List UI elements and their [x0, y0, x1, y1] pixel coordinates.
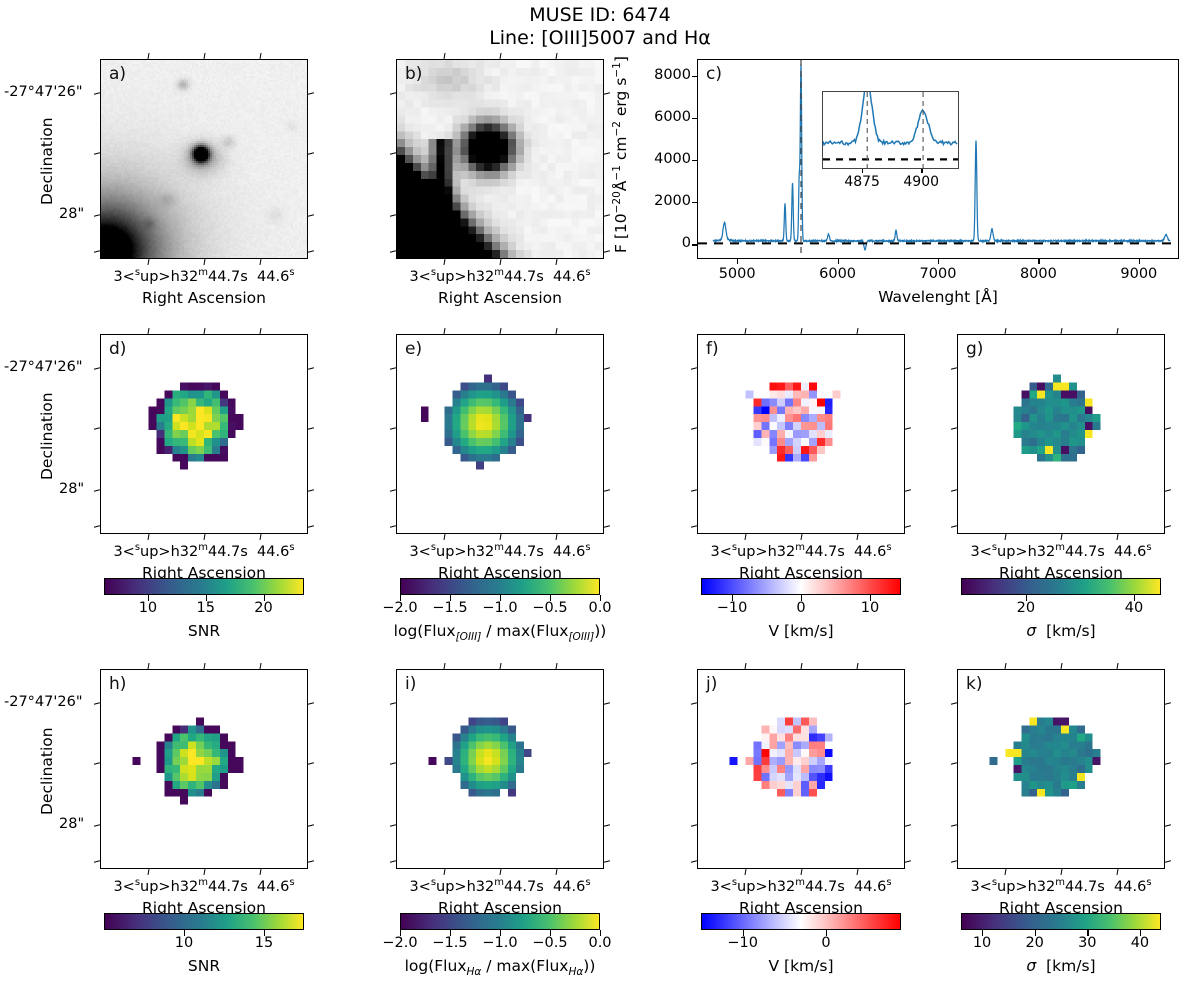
tick-x-bottom — [203, 534, 205, 540]
spec-xtick — [938, 259, 939, 264]
tick-y-right — [905, 427, 911, 430]
inset-spectrum-line — [823, 92, 957, 145]
tick-y-right — [1165, 860, 1171, 863]
spec-ytick — [692, 76, 697, 77]
tick-y-right — [1165, 489, 1171, 492]
colorbar-cb-j[interactable] — [701, 913, 901, 930]
ra-tick-labels: 3<sup>h32m44.7s 44.6s — [382, 877, 618, 895]
spec-ytick — [692, 118, 697, 119]
ra-tick-label-1: 3<sup>h32m44.7s — [113, 544, 247, 560]
dec-tick-label-2: 28" — [59, 481, 84, 497]
panel-b-label: b) — [405, 64, 422, 84]
panel-j-image — [698, 670, 904, 868]
tick-y-right — [604, 214, 610, 217]
colorbar-title-cb-d: SNR — [48, 622, 360, 640]
spec-xtick — [838, 259, 839, 264]
ra-tick-label-1: 3<sup>h32m44.7s — [970, 879, 1104, 895]
ra-tick-label-2: 44.6s — [553, 269, 591, 285]
panel-b-muse-white-image[interactable]: b) — [396, 59, 604, 259]
dec-tick-label-2: 28" — [59, 816, 84, 832]
ra-tick-label-2: 44.6s — [257, 879, 295, 895]
panel-g-image — [958, 335, 1164, 533]
colorbar-cb-g[interactable] — [961, 578, 1161, 595]
spec-ytick — [692, 244, 697, 245]
dec-tick-label-1: -27°47'26" — [4, 84, 83, 100]
panel-c-label: c) — [706, 64, 722, 84]
tick-x-bottom — [443, 259, 445, 265]
panel-g-oiii-sigma-map[interactable]: g) — [957, 334, 1165, 534]
panel-f-image — [698, 335, 904, 533]
panel-i-halpha-flux-map[interactable]: i) — [396, 669, 604, 869]
panel-a-hst-image[interactable]: a) — [100, 59, 308, 259]
tick-y-right — [1165, 824, 1171, 827]
colorbar-tick-label: −10 — [709, 935, 777, 951]
tick-y-right — [604, 427, 610, 430]
ra-tick-label-1: 3<sup>h32m44.7s — [710, 879, 844, 895]
tick-x-bottom — [260, 259, 262, 265]
dec-axis-label: Declination — [38, 727, 56, 815]
tick-x-bottom — [443, 534, 445, 540]
panel-e-oiii-flux-map[interactable]: e) — [396, 334, 604, 534]
spec-xtick-label: 5000 — [711, 266, 763, 282]
tick-y-right — [604, 250, 610, 253]
panel-j-halpha-velocity-map[interactable]: j) — [697, 669, 905, 869]
tick-y-right — [604, 860, 610, 863]
spec-ytick-label: 0 — [637, 235, 691, 251]
tick-y-right — [308, 250, 314, 253]
tick-y-right — [905, 489, 911, 492]
spec-ytick-label: 4000 — [637, 151, 691, 167]
tick-y-right — [308, 489, 314, 492]
tick-x-bottom — [556, 534, 558, 540]
tick-x-bottom — [1060, 534, 1062, 540]
tick-y-right — [308, 152, 314, 155]
tick-x-bottom — [203, 259, 205, 265]
dec-tick-label-1: -27°47'26" — [4, 694, 83, 710]
panel-d-label: d) — [109, 339, 126, 359]
tick-y-right — [905, 860, 911, 863]
colorbar-cb-i[interactable] — [400, 913, 600, 930]
colorbar-cb-k[interactable] — [961, 913, 1161, 930]
ra-tick-label-1: 3<sup>h32m44.7s — [409, 544, 543, 560]
colorbar-tick-label: 0.0 — [566, 935, 634, 951]
colorbar-tick-label: 40 — [1106, 935, 1174, 951]
ra-tick-labels: 3<sup>h32m44.7s 44.6s — [86, 877, 322, 895]
colorbar-tick-label: 0 — [792, 935, 860, 951]
tick-x-bottom — [857, 869, 859, 875]
tick-x-bottom — [260, 869, 262, 875]
tick-x-bottom — [1004, 534, 1006, 540]
colorbar-tick-label: 20 — [992, 600, 1060, 616]
tick-y-right — [604, 762, 610, 765]
tick-y-right — [905, 525, 911, 528]
colorbar-title-cb-i: log(FluxHα / max(FluxHα)) — [344, 957, 656, 978]
spec-xtick-label: 8000 — [1012, 266, 1064, 282]
panel-i-image — [397, 670, 603, 868]
tick-y-right — [308, 702, 314, 705]
dec-axis-label: Declination — [38, 392, 56, 480]
tick-x-bottom — [499, 534, 501, 540]
colorbar-tick-label: 0 — [767, 600, 835, 616]
ra-tick-labels: 3<sup>h32m44.7s 44.6s — [943, 877, 1179, 895]
panel-h-label: h) — [109, 674, 126, 694]
spectrum-inset[interactable] — [822, 91, 959, 169]
ra-tick-label-1: 3<sup>h32m44.7s — [970, 544, 1104, 560]
panel-k-label: k) — [966, 674, 982, 694]
tick-y-right — [308, 367, 314, 370]
panel-k-image — [958, 670, 1164, 868]
ra-tick-label-2: 44.6s — [553, 544, 591, 560]
panel-f-label: f) — [706, 339, 719, 359]
colorbar-tick-label: −10 — [698, 600, 766, 616]
dec-tick-label-2: 28" — [59, 206, 84, 222]
tick-y-right — [604, 152, 610, 155]
panel-f-oiii-velocity-map[interactable]: f) — [697, 334, 905, 534]
inset-plot — [823, 92, 958, 168]
ra-tick-labels: 3<sup>h32m44.7s 44.6s — [943, 542, 1179, 560]
spectrum-xaxis-label: Wavelenght [Å] — [697, 288, 1179, 306]
panel-a-label: a) — [109, 64, 126, 84]
tick-x-bottom — [857, 534, 859, 540]
colorbar-tick-label: 10 — [836, 600, 904, 616]
panel-j-label: j) — [706, 674, 717, 694]
title-line-muse-id: MUSE ID: 6474 — [0, 4, 1200, 27]
dec-axis-label: Declination — [38, 117, 56, 205]
spec-xtick-label: 9000 — [1113, 266, 1165, 282]
ra-tick-labels: 3<sup>h32m44.7s 44.6s — [382, 267, 618, 285]
tick-y-right — [604, 702, 610, 705]
ra-tick-labels: 3<sup>h32m44.7s 44.6s — [683, 877, 919, 895]
tick-x-bottom — [1117, 534, 1119, 540]
colorbar-title-cb-k: σ [km/s] — [905, 957, 1200, 975]
tick-y-right — [308, 427, 314, 430]
spec-ytick-label: 6000 — [637, 109, 691, 125]
tick-y-right — [1165, 525, 1171, 528]
colorbar-title-cb-e: log(Flux[OIII] / max(Flux[OIII])) — [344, 622, 656, 643]
colorbar-cb-f[interactable] — [701, 578, 901, 595]
tick-y-right — [308, 525, 314, 528]
panel-g-label: g) — [966, 339, 983, 359]
colorbar-title-cb-h: SNR — [48, 957, 360, 975]
ra-tick-label-1: 3<sup>h32m44.7s — [113, 269, 247, 285]
spec-xtick — [1139, 259, 1140, 264]
figure-title: MUSE ID: 6474 Line: [OIII]5007 and Hα — [0, 4, 1200, 50]
panel-b-image — [397, 60, 603, 258]
spec-xtick — [1038, 259, 1039, 264]
colorbar-tick-label: 20 — [230, 600, 298, 616]
inset-xtick — [921, 169, 922, 173]
tick-y-right — [308, 214, 314, 217]
ra-tick-labels: 3<sup>h32m44.7s 44.6s — [683, 542, 919, 560]
tick-x-bottom — [1004, 869, 1006, 875]
tick-x-bottom — [443, 869, 445, 875]
panel-a-image — [101, 60, 307, 258]
tick-x-bottom — [147, 534, 149, 540]
ra-tick-labels: 3<sup>h32m44.7s 44.6s — [86, 542, 322, 560]
colorbar-cb-h[interactable] — [104, 913, 304, 930]
ra-tick-label-2: 44.6s — [553, 879, 591, 895]
tick-y-right — [604, 489, 610, 492]
tick-x-bottom — [203, 869, 205, 875]
tick-x-bottom — [147, 869, 149, 875]
tick-x-bottom — [744, 869, 746, 875]
tick-y-right — [604, 824, 610, 827]
tick-x-bottom — [147, 259, 149, 265]
tick-y-right — [308, 860, 314, 863]
tick-y-right — [905, 762, 911, 765]
ra-tick-label-2: 44.6s — [257, 544, 295, 560]
panel-k-halpha-sigma-map[interactable]: k) — [957, 669, 1165, 869]
dec-tick-label-1: -27°47'26" — [4, 359, 83, 375]
spec-ytick — [692, 160, 697, 161]
tick-x-bottom — [260, 534, 262, 540]
colorbar-title-cb-g: σ [km/s] — [905, 622, 1200, 640]
spec-xtick — [737, 259, 738, 264]
ra-tick-label-2: 44.6s — [1114, 879, 1152, 895]
tick-y-right — [1165, 762, 1171, 765]
tick-y-right — [1165, 427, 1171, 430]
tick-y-right — [604, 525, 610, 528]
ra-axis-label: Right Ascension — [382, 289, 618, 307]
tick-y-right — [308, 92, 314, 95]
tick-y-right — [1165, 367, 1171, 370]
colorbar-cb-d[interactable] — [104, 578, 304, 595]
tick-y-right — [604, 367, 610, 370]
panel-d-image — [101, 335, 307, 533]
figure-canvas: MUSE ID: 6474 Line: [OIII]5007 and Hα a)… — [0, 0, 1200, 994]
spec-ytick — [692, 202, 697, 203]
tick-x-bottom — [499, 869, 501, 875]
inset-xtick-label: 4875 — [834, 174, 890, 190]
panel-h-halpha-snr-map[interactable]: h) — [100, 669, 308, 869]
tick-x-bottom — [744, 534, 746, 540]
tick-x-bottom — [800, 869, 802, 875]
panel-e-image — [397, 335, 603, 533]
colorbar-tick-label: 40 — [1100, 600, 1168, 616]
ra-tick-label-2: 44.6s — [1114, 544, 1152, 560]
panel-h-image — [101, 670, 307, 868]
tick-y-right — [905, 824, 911, 827]
tick-x-bottom — [1117, 869, 1119, 875]
ra-axis-label: Right Ascension — [86, 289, 322, 307]
ra-tick-label-2: 44.6s — [257, 269, 295, 285]
tick-x-bottom — [499, 259, 501, 265]
tick-y-right — [905, 702, 911, 705]
title-line-emission-lines: Line: [OIII]5007 and Hα — [0, 27, 1200, 50]
ra-tick-labels: 3<sup>h32m44.7s 44.6s — [382, 542, 618, 560]
ra-tick-label-1: 3<sup>h32m44.7s — [409, 269, 543, 285]
tick-x-bottom — [1060, 869, 1062, 875]
tick-y-right — [308, 762, 314, 765]
tick-y-right — [905, 367, 911, 370]
colorbar-tick-label: 15 — [230, 935, 298, 951]
colorbar-tick-label: 0.0 — [566, 600, 634, 616]
tick-x-bottom — [800, 534, 802, 540]
spec-ytick-label: 2000 — [637, 193, 691, 209]
panel-e-label: e) — [405, 339, 422, 359]
tick-y-right — [308, 824, 314, 827]
ra-tick-label-2: 44.6s — [854, 879, 892, 895]
tick-y-right — [604, 92, 610, 95]
spec-xtick-label: 6000 — [812, 266, 864, 282]
ra-tick-label-1: 3<sup>h32m44.7s — [409, 879, 543, 895]
colorbar-cb-e[interactable] — [400, 578, 600, 595]
spec-ytick-label: 8000 — [637, 67, 691, 83]
colorbar-tick-label: 10 — [150, 935, 218, 951]
spectrum-yaxis-label: F [10−20Å−1 cm−2 erg s−1] — [611, 56, 630, 253]
panel-i-label: i) — [405, 674, 416, 694]
ra-tick-labels: 3<sup>h32m44.7s 44.6s — [86, 267, 322, 285]
inset-xtick-label: 4900 — [893, 174, 949, 190]
tick-x-bottom — [556, 869, 558, 875]
inset-xtick — [862, 169, 863, 173]
ra-tick-label-2: 44.6s — [854, 544, 892, 560]
tick-y-right — [1165, 702, 1171, 705]
panel-d-oiii-snr-map[interactable]: d) — [100, 334, 308, 534]
spec-xtick-label: 7000 — [912, 266, 964, 282]
ra-tick-label-1: 3<sup>h32m44.7s — [113, 879, 247, 895]
tick-x-bottom — [556, 259, 558, 265]
ra-tick-label-1: 3<sup>h32m44.7s — [710, 544, 844, 560]
